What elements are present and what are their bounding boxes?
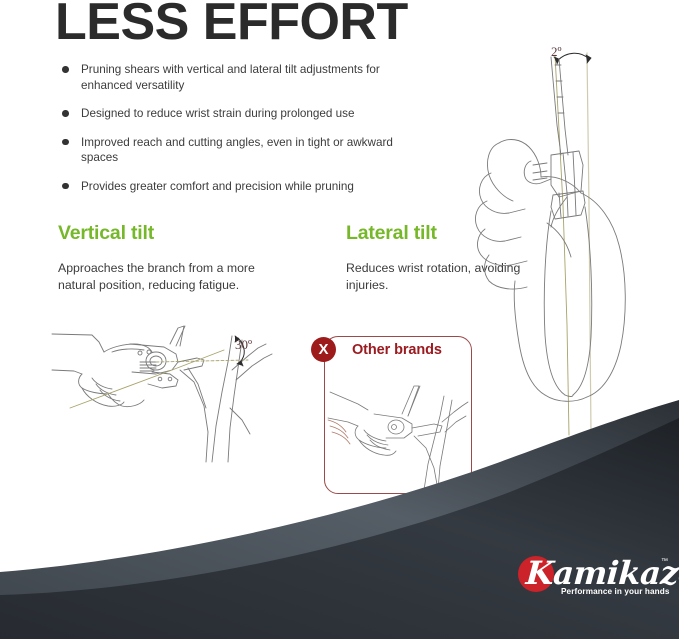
trademark-icon: ™ xyxy=(661,558,668,565)
bullet-dot-icon xyxy=(62,183,69,190)
vertical-tilt-heading: Vertical tilt xyxy=(58,222,154,245)
hero-angle-label: 2º xyxy=(551,44,562,60)
list-item: Improved reach and cutting angles, even … xyxy=(60,135,405,166)
bullet-dot-icon xyxy=(62,139,69,146)
bullet-dot-icon xyxy=(62,110,69,117)
list-item: Provides greater comfort and precision w… xyxy=(60,179,405,195)
list-item-label: Improved reach and cutting angles, even … xyxy=(81,136,393,165)
list-item-label: Pruning shears with vertical and lateral… xyxy=(81,63,380,92)
other-brands-illustration xyxy=(328,378,470,490)
hand-holding-tool-illustration xyxy=(455,25,670,455)
feature-bullet-list: Pruning shears with vertical and lateral… xyxy=(60,62,405,207)
product-infographic-page: LESS EFFORT Pruning shears with vertical… xyxy=(0,0,679,639)
bullet-dot-icon xyxy=(62,66,69,73)
list-item-label: Provides greater comfort and precision w… xyxy=(81,180,354,193)
logo-tagline: Performance in your hands xyxy=(561,587,670,596)
x-circle-icon: X xyxy=(311,337,336,362)
brand-logo: Kamikaze ™ Performance in your hands xyxy=(518,554,668,606)
other-brands-label: Other brands xyxy=(352,342,442,358)
list-item: Designed to reduce wrist strain during p… xyxy=(60,106,405,122)
list-item-label: Designed to reduce wrist strain during p… xyxy=(81,107,355,120)
list-item: Pruning shears with vertical and lateral… xyxy=(60,62,405,93)
vertical-tilt-body: Approaches the branch from a more natura… xyxy=(58,260,273,293)
vertical-tilt-illustration xyxy=(52,322,300,462)
vertical-tilt-angle-label: 30º xyxy=(235,337,252,353)
page-title: LESS EFFORT xyxy=(55,0,408,50)
lateral-tilt-heading: Lateral tilt xyxy=(346,222,437,245)
